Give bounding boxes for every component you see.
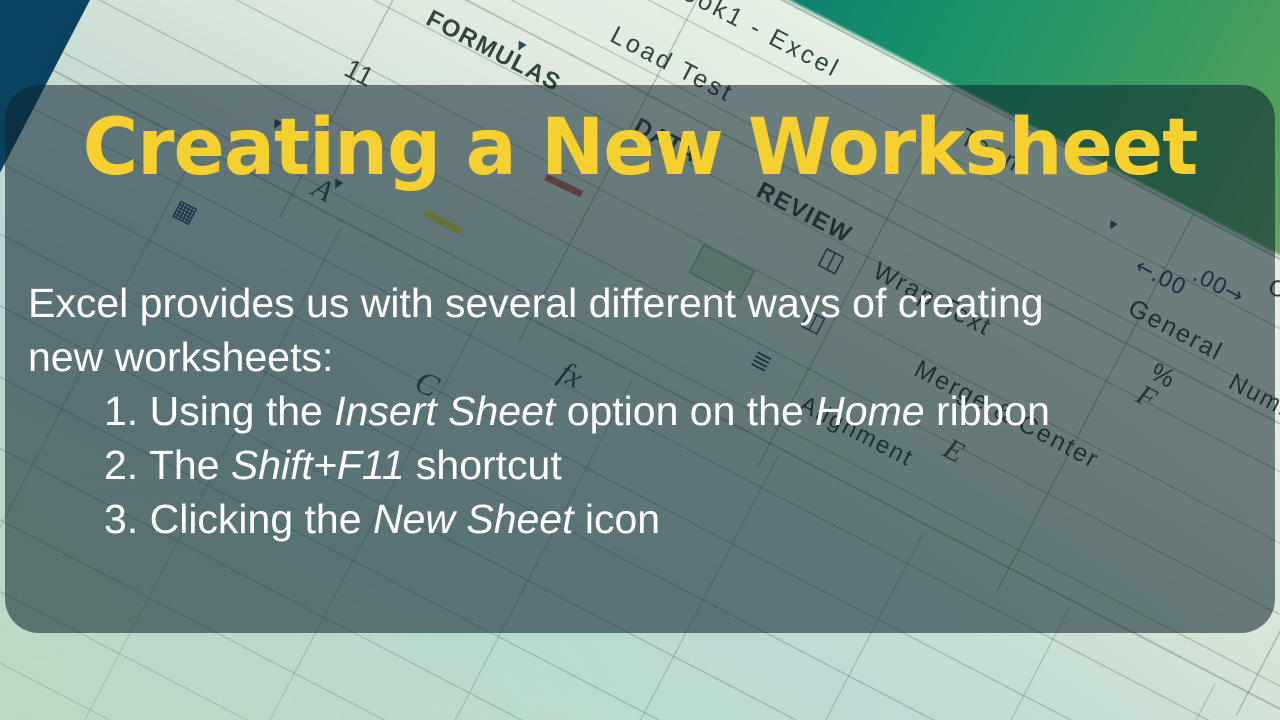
list-item-emphasis-insert-sheet: Insert Sheet	[334, 388, 555, 434]
list-item-text-part-1: The	[149, 442, 231, 488]
slide-canvas: Book1 - Excel Team Conditional Formattin…	[0, 0, 1280, 720]
list-item: 2. The Shift+F11 shortcut	[28, 438, 1268, 492]
list-item-text-part-2: icon	[574, 496, 661, 542]
list-item: 3. Clicking the New Sheet icon	[28, 492, 1268, 546]
page-title: Creating a New Worksheet	[19, 108, 1261, 190]
list-item-emphasis-new-sheet: New Sheet	[373, 496, 574, 542]
list-item-number: 1.	[104, 384, 138, 438]
list-item-text-part-1: Using the	[150, 388, 335, 434]
methods-list: 1. Using the Insert Sheet option on the …	[28, 384, 1268, 546]
list-item-text-part-2: shortcut	[405, 442, 562, 488]
list-item-number: 2.	[104, 438, 138, 492]
list-item-text-part-3: ribbon	[925, 388, 1050, 434]
slide-body: Excel provides us with several different…	[28, 276, 1268, 546]
list-item-text-part-1: Clicking the	[150, 496, 373, 542]
list-item: 1. Using the Insert Sheet option on the …	[28, 384, 1268, 438]
list-item-number: 3.	[104, 492, 138, 546]
list-item-text-part-2: option on the	[555, 388, 815, 434]
intro-line-1: Excel provides us with several different…	[28, 276, 1268, 330]
intro-line-2: new worksheets:	[28, 330, 1268, 384]
list-item-emphasis-home: Home	[815, 388, 924, 434]
list-item-emphasis-shift-f11: Shift+F11	[231, 442, 405, 488]
